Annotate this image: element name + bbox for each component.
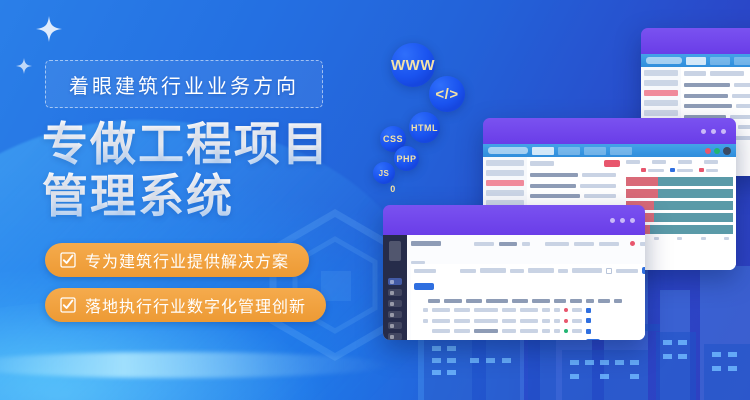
window-title-bar xyxy=(641,28,750,54)
tech-bubble-label: PHP xyxy=(396,154,416,164)
tech-bubble-www: WWW xyxy=(391,43,435,87)
sidebar xyxy=(383,235,407,340)
window-dot-icon xyxy=(721,129,726,134)
chart-legend xyxy=(626,168,733,172)
row-action-button[interactable] xyxy=(586,339,600,340)
tech-bubble-label: CSS xyxy=(383,134,403,144)
add-button[interactable] xyxy=(414,283,434,290)
window-title-bar xyxy=(383,205,645,235)
reset-link[interactable] xyxy=(616,269,638,273)
sidebar-item[interactable] xyxy=(388,311,402,318)
avatar[interactable] xyxy=(723,147,731,155)
row-checkbox[interactable] xyxy=(423,308,428,312)
row-action-button[interactable] xyxy=(586,329,591,334)
filter-label xyxy=(510,269,524,273)
nav-item[interactable] xyxy=(644,100,678,106)
table-row[interactable] xyxy=(414,338,645,341)
tech-bubble-code: </> xyxy=(429,76,465,112)
tech-bubble-label: JS xyxy=(379,169,390,178)
column-header xyxy=(570,299,582,303)
filter-select[interactable] xyxy=(528,268,554,273)
column-header xyxy=(428,299,440,303)
status-badge xyxy=(564,340,568,341)
row-action-button[interactable] xyxy=(586,318,591,323)
breadcrumb xyxy=(411,251,645,262)
chart-bar-row xyxy=(626,177,733,186)
tech-bubble-label: HTML xyxy=(411,123,438,133)
tech-bubble-js: JS xyxy=(373,162,395,184)
sidebar-item[interactable] xyxy=(388,322,402,329)
table-row[interactable] xyxy=(684,102,750,110)
sidebar-item[interactable] xyxy=(388,333,402,340)
chevron-down-icon[interactable] xyxy=(522,242,530,246)
tech-bubble-html: HTML xyxy=(409,112,440,143)
tagline-text: 着眼建筑行业业务方向 xyxy=(69,70,299,99)
column-header xyxy=(554,299,566,303)
tech-bubble-label: WWW xyxy=(391,57,435,74)
dashboard-window-front[interactable] xyxy=(383,205,645,340)
row-checkbox[interactable] xyxy=(423,319,428,323)
table-row[interactable] xyxy=(414,327,645,335)
alert-icon[interactable] xyxy=(705,148,711,154)
app-title xyxy=(411,241,441,246)
app-toolbar xyxy=(483,144,736,157)
sidebar-item[interactable] xyxy=(388,289,402,296)
table-row[interactable] xyxy=(530,171,620,179)
sparkle-small-icon xyxy=(16,58,32,74)
tech-bubble-php: PHP xyxy=(394,146,419,171)
promo-banner: 着眼建筑行业业务方向 专做工程项目 管理系统 专为建筑行业提供解决方案 落 xyxy=(0,0,750,400)
table-row[interactable] xyxy=(684,81,750,89)
column-header xyxy=(532,299,550,303)
sidebar-logo xyxy=(389,241,401,261)
danger-button[interactable] xyxy=(604,160,620,167)
chart-bar-row xyxy=(626,189,733,198)
status-badge xyxy=(564,319,568,323)
table-row[interactable] xyxy=(414,317,645,325)
filter-label xyxy=(558,269,568,273)
menu-item-active[interactable] xyxy=(499,242,517,246)
checkbox-icon xyxy=(60,297,76,313)
headline-line-2: 管理系统 xyxy=(42,170,372,222)
tab-item[interactable] xyxy=(710,57,730,65)
top-toolbar xyxy=(411,238,645,249)
nav-item[interactable] xyxy=(644,70,678,76)
nav-item[interactable] xyxy=(644,80,678,86)
table-row[interactable] xyxy=(530,182,620,190)
feature-badge-label: 落地执行行业数字化管理创新 xyxy=(85,293,306,317)
sidebar-item[interactable] xyxy=(388,300,402,307)
feature-badge-label: 专为建筑行业提供解决方案 xyxy=(85,248,289,272)
feature-badge[interactable]: 落地执行行业数字化管理创新 xyxy=(45,288,326,322)
search-icon[interactable] xyxy=(606,268,612,274)
sidebar-item-active[interactable] xyxy=(388,278,402,285)
headline-line-1: 专做工程项目 xyxy=(42,118,372,170)
tech-bubble-zero: 0 xyxy=(386,182,400,196)
row-action-button[interactable] xyxy=(586,308,591,313)
table-row[interactable] xyxy=(684,92,750,100)
tagline-box: 着眼建筑行业业务方向 xyxy=(45,60,323,108)
status-badge xyxy=(564,329,568,333)
tech-bubble-label: </> xyxy=(435,86,458,103)
notification-badge[interactable] xyxy=(630,241,635,246)
column-header xyxy=(598,299,610,303)
app-logo xyxy=(646,57,682,64)
window-dot-icon xyxy=(610,218,615,223)
window-title-bar xyxy=(483,118,736,144)
nav-item[interactable] xyxy=(486,170,524,176)
nav-item[interactable] xyxy=(644,110,678,116)
field-label xyxy=(684,71,706,76)
feature-badge[interactable]: 专为建筑行业提供解决方案 xyxy=(45,243,309,277)
tab-item[interactable] xyxy=(584,147,606,155)
column-header xyxy=(466,299,482,303)
menu-item[interactable] xyxy=(474,242,494,246)
column-header xyxy=(586,299,594,303)
nav-item[interactable] xyxy=(486,190,524,196)
window-dot-icon xyxy=(630,218,635,223)
tab-item[interactable] xyxy=(686,57,706,65)
app-toolbar xyxy=(641,54,750,67)
field-label xyxy=(530,161,554,166)
window-body xyxy=(383,235,645,340)
filter-label xyxy=(460,269,476,273)
window-dot-icon xyxy=(711,129,716,134)
feature-badge-list: 专为建筑行业提供解决方案 落地执行行业数字化管理创新 xyxy=(45,243,326,333)
column-header xyxy=(614,299,622,303)
tab-item[interactable] xyxy=(610,147,632,155)
tab-item[interactable] xyxy=(532,147,554,155)
search-button[interactable] xyxy=(642,267,645,274)
app-logo xyxy=(488,147,528,154)
nav-item[interactable] xyxy=(486,160,524,166)
column-header xyxy=(444,299,462,303)
menu-item[interactable] xyxy=(545,242,569,246)
field-label xyxy=(710,71,744,76)
status-badge xyxy=(564,308,568,312)
search-input[interactable] xyxy=(572,268,602,273)
column-header xyxy=(486,299,508,303)
menu-item[interactable] xyxy=(599,242,619,246)
table-row[interactable] xyxy=(414,306,645,314)
page-title: 专做工程项目 管理系统 xyxy=(42,118,372,222)
status-icon[interactable] xyxy=(714,148,720,154)
filter-panel xyxy=(411,264,645,340)
filter-label xyxy=(414,269,436,273)
filter-select[interactable] xyxy=(480,268,506,273)
sparkle-large-icon xyxy=(36,16,62,42)
table-row[interactable] xyxy=(530,192,620,200)
window-dot-icon xyxy=(620,218,625,223)
checkbox-icon xyxy=(60,252,76,268)
tech-bubble-label: 0 xyxy=(390,184,396,194)
tab-item[interactable] xyxy=(558,147,580,155)
nav-item-active[interactable] xyxy=(644,90,678,96)
window-dot-icon xyxy=(701,129,706,134)
nav-item-active[interactable] xyxy=(486,180,524,186)
main-content xyxy=(407,235,645,340)
user-menu[interactable] xyxy=(640,242,645,246)
column-header xyxy=(512,299,528,303)
menu-item[interactable] xyxy=(574,242,594,246)
tab-item[interactable] xyxy=(734,57,750,65)
